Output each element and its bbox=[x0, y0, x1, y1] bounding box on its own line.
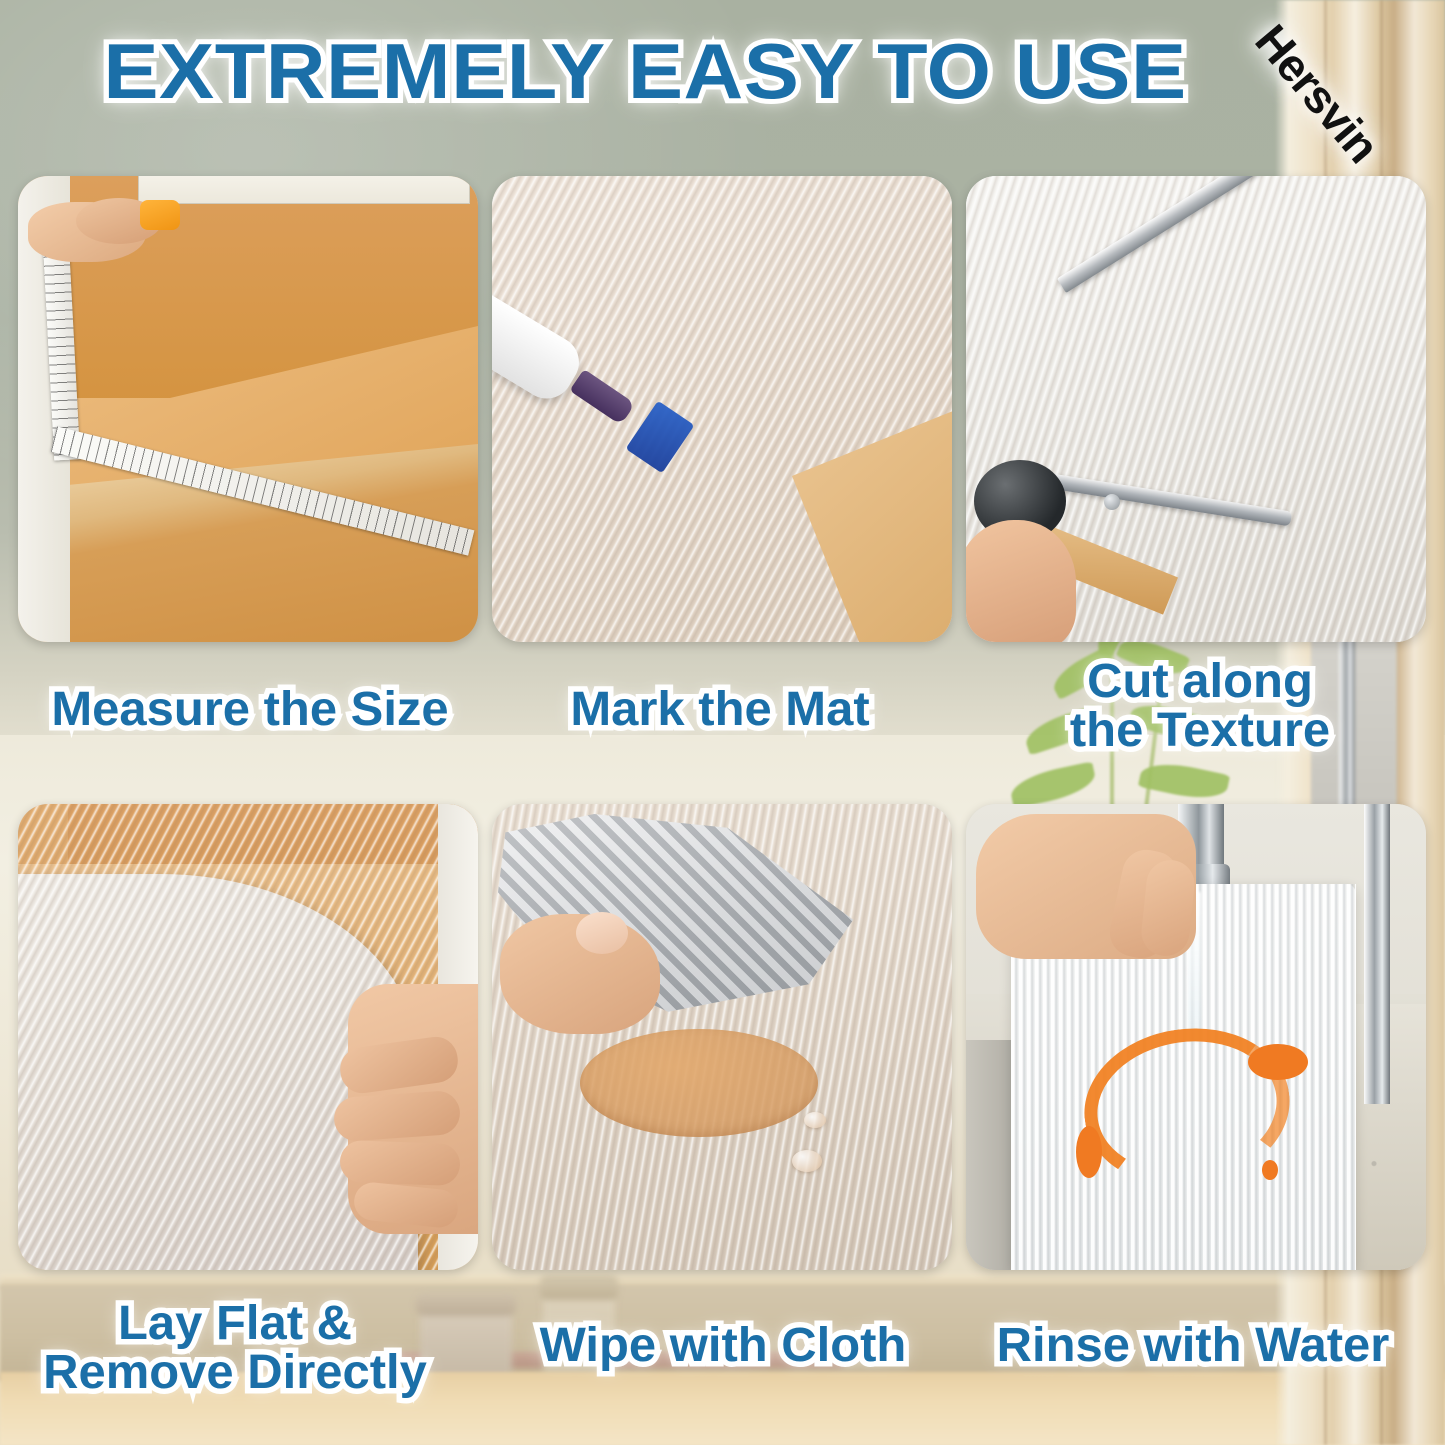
orange-stain bbox=[1248, 1044, 1308, 1080]
hand-finger bbox=[333, 1090, 462, 1143]
photo-mark bbox=[492, 176, 952, 642]
infographic-canvas: EXTREMELY EASY TO USE Hersvin bbox=[0, 0, 1445, 1445]
step-photo-measure bbox=[18, 176, 478, 642]
photo-rinse bbox=[966, 804, 1426, 1270]
hand-finger bbox=[339, 1140, 460, 1186]
page-title: EXTREMELY EASY TO USE bbox=[0, 32, 1329, 110]
caption-lay-flat-remove-directly: Lay Flat & Remove Directly bbox=[0, 1300, 475, 1398]
caption-mark-the-mat: Mark the Mat bbox=[496, 686, 945, 735]
photo-wipe bbox=[492, 804, 952, 1270]
caption-rinse-with-water: Rinse with Water bbox=[943, 1322, 1443, 1371]
orange-stain bbox=[1262, 1160, 1278, 1180]
caption-wipe-with-cloth: Wipe with Cloth bbox=[483, 1322, 962, 1371]
jar-lid bbox=[540, 1276, 618, 1300]
orange-stain bbox=[1076, 1126, 1102, 1178]
scissors-pivot-icon bbox=[1104, 494, 1120, 510]
water-droplet bbox=[792, 1150, 822, 1172]
water-droplet bbox=[804, 1112, 826, 1128]
step-photo-wipe bbox=[492, 804, 952, 1270]
thumb-nail bbox=[576, 912, 628, 954]
step-photo-cut bbox=[966, 176, 1426, 642]
photo-lay-flat bbox=[18, 804, 478, 1270]
photo-measure bbox=[18, 176, 478, 642]
step-photo-mark bbox=[492, 176, 952, 642]
caption-measure-the-size: Measure the Size bbox=[0, 686, 505, 735]
caption-cut-along-the-texture: Cut along the Texture bbox=[981, 658, 1420, 756]
white-board-top bbox=[138, 176, 470, 204]
step-photo-rinse bbox=[966, 804, 1426, 1270]
faucet-pole-icon bbox=[1364, 804, 1390, 1104]
photo-cut bbox=[966, 176, 1426, 642]
liquid-spill bbox=[580, 1029, 818, 1137]
step-photo-lay-flat bbox=[18, 804, 478, 1270]
hand-finger bbox=[966, 520, 1076, 642]
tape-measure-clip-icon bbox=[140, 200, 180, 230]
